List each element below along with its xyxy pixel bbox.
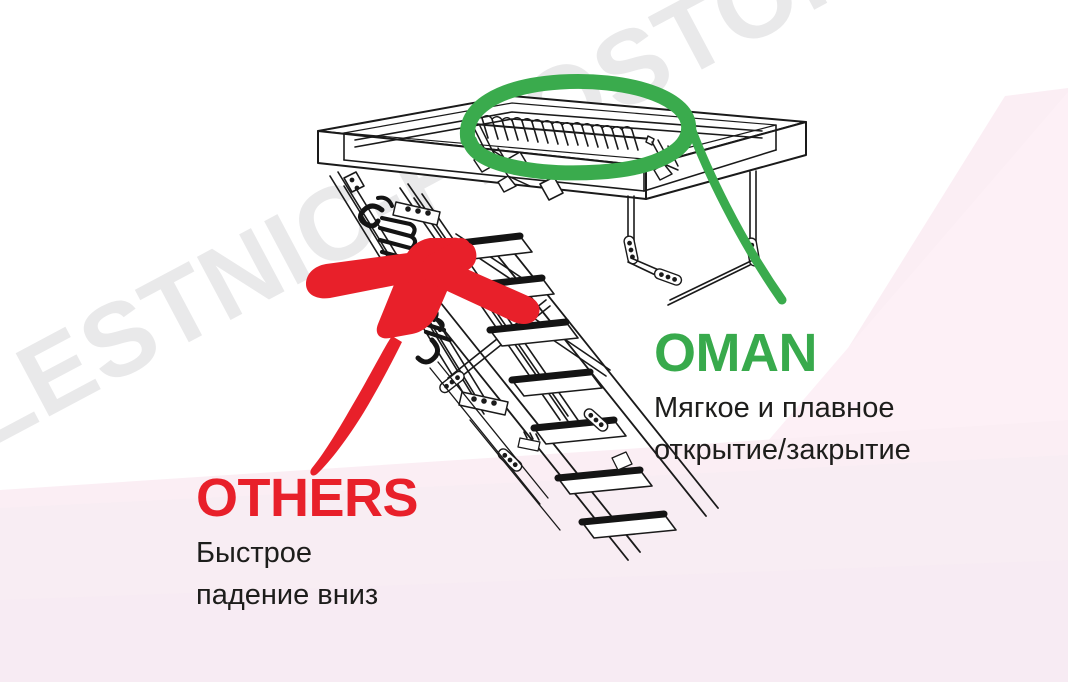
ladder-fittings xyxy=(459,392,632,473)
support-rods xyxy=(623,171,760,305)
oman-annotation: OMAN Мягкое и плавное открытие/закрытие xyxy=(654,325,994,471)
image-canvas: LESTNIC-PROSTO.RU xyxy=(0,0,1068,682)
band-bottom-left-2 xyxy=(0,455,1068,682)
others-subtitle-line-2: падение вниз xyxy=(196,574,526,616)
others-title: OTHERS xyxy=(196,470,526,526)
hatch-box-frame xyxy=(318,96,806,199)
red-arrow-icon xyxy=(377,238,465,339)
ladder-upper-rails xyxy=(330,172,582,430)
others-subtitle-line-1: Быстрое xyxy=(196,532,526,574)
oman-title: OMAN xyxy=(654,325,994,381)
others-annotation: OTHERS Быстрое падение вниз xyxy=(196,470,526,616)
coil-spring xyxy=(360,198,450,362)
scissor-arms xyxy=(438,234,610,395)
band-bottom-strip xyxy=(0,560,1068,682)
oman-subtitle: Мягкое и плавное открытие/закрытие xyxy=(654,387,994,471)
oman-subtitle-line-1: Мягкое и плавное xyxy=(654,387,994,429)
red-arrow-tail xyxy=(310,336,402,475)
gas-spring-mechanism xyxy=(464,116,678,192)
spring-attach-plate xyxy=(393,202,440,225)
oman-subtitle-line-2: открытие/закрытие xyxy=(654,429,994,471)
green-leader-line xyxy=(688,120,782,300)
green-ellipse-icon xyxy=(467,81,688,172)
others-subtitle: Быстрое падение вниз xyxy=(196,532,526,616)
